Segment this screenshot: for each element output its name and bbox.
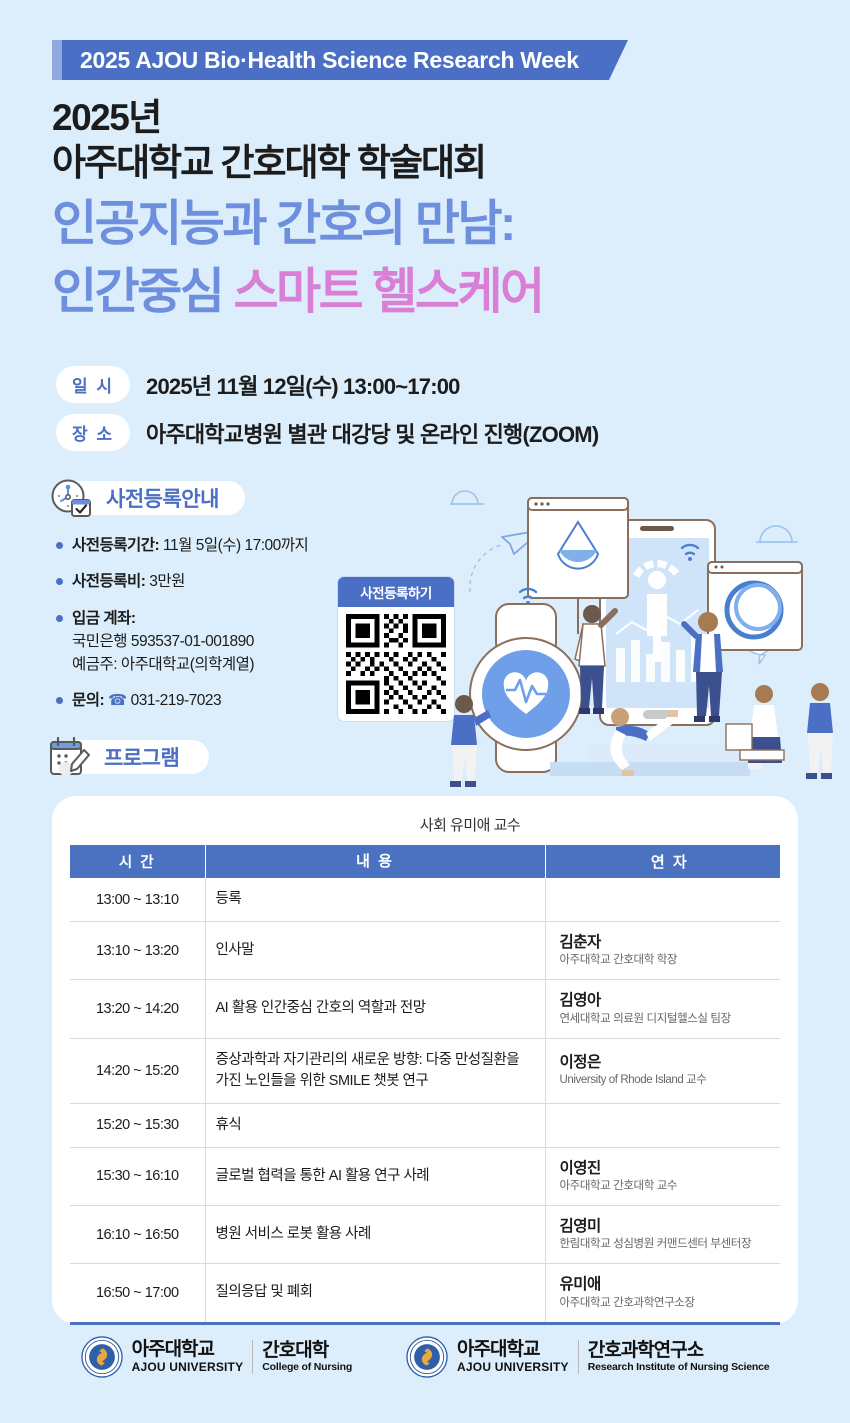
bullet-icon <box>56 615 63 622</box>
column-header-topic: 내 용 <box>205 845 545 878</box>
registration-details: 사전등록기간: 11월 5일(수) 17:00까지 사전등록비: 3만원 입금 … <box>56 534 356 726</box>
registration-fee-value: 3만원 <box>145 573 184 590</box>
cell-time: 13:10 ~ 13:20 <box>70 922 205 980</box>
qr-card-title: 사전등록하기 <box>338 577 454 607</box>
logo-unit: 간호대학 College of Nursing <box>253 1341 352 1374</box>
logo-university: 아주대학교 AJOU UNIVERSITY <box>132 1340 254 1374</box>
bullet-icon <box>56 578 63 585</box>
registration-contact-item: 문의: ☎ 031-219-7023 <box>56 689 356 712</box>
cell-time: 16:10 ~ 16:50 <box>70 1206 205 1264</box>
place-label: 장 소 <box>56 414 130 451</box>
speaker-affiliation: University of Rhode Island 교수 <box>560 1073 771 1088</box>
program-card: 사회 유미애 교수 시 간 내 용 연 자 13:00 ~ 13:10등록13:… <box>52 796 798 1324</box>
person-standing-right <box>806 683 833 779</box>
date-value: 2025년 11월 12일(수) 13:00~17:00 <box>146 369 460 401</box>
registration-account: 입금 계좌: 국민은행 593537-01-001890 예금주: 아주대학교(… <box>72 607 254 677</box>
title-main-blue: 인간중심 <box>52 265 233 319</box>
speaker-name: 이정은 <box>560 1053 771 1072</box>
ajou-emblem-icon <box>406 1336 448 1378</box>
logo-university-en: AJOU UNIVERSITY <box>132 1360 244 1374</box>
speaker-name: 이영진 <box>560 1159 771 1178</box>
cell-speaker: 이영진아주대학교 간호대학 교수 <box>545 1147 780 1205</box>
qr-code-image[interactable] <box>346 614 446 714</box>
cell-speaker: 유미애아주대학교 간호과학연구소장 <box>545 1264 780 1323</box>
logo-university-en: AJOU UNIVERSITY <box>457 1360 569 1374</box>
table-row: 15:30 ~ 16:10글로벌 협력을 통한 AI 활용 연구 사례이영진아주… <box>70 1147 780 1205</box>
place-value: 아주대학교병원 별관 대강당 및 온라인 진행(ZOOM) <box>146 417 598 449</box>
bullet-icon <box>56 542 63 549</box>
speaker-name: 김영미 <box>560 1217 771 1236</box>
table-row: 14:20 ~ 15:20증상과학과 자기관리의 새로운 방향: 다중 만성질환… <box>70 1038 780 1103</box>
speaker-name: 김춘자 <box>560 933 771 952</box>
table-row: 16:10 ~ 16:50병원 서비스 로봇 활용 사례김영미한림대학교 성심병… <box>70 1206 780 1264</box>
logo-text: 아주대학교 AJOU UNIVERSITY 간호대학 College of Nu… <box>132 1340 352 1374</box>
column-header-speaker: 연 자 <box>545 845 780 878</box>
registration-account-label: 입금 계좌: <box>72 610 136 627</box>
registration-account-item: 입금 계좌: 국민은행 593537-01-001890 예금주: 아주대학교(… <box>56 607 356 677</box>
program-table: 시 간 내 용 연 자 13:00 ~ 13:10등록13:10 ~ 13:20… <box>70 845 780 1325</box>
place-row: 장 소 아주대학교병원 별관 대강당 및 온라인 진행(ZOOM) <box>56 414 598 451</box>
logo-university: 아주대학교 AJOU UNIVERSITY <box>457 1340 579 1374</box>
table-row: 15:20 ~ 15:30휴식 <box>70 1103 780 1147</box>
speaker-name: 유미애 <box>560 1275 771 1294</box>
table-row: 13:20 ~ 14:20AI 활용 인간중심 간호의 역할과 전망김영아연세대… <box>70 980 780 1038</box>
telephone-icon: ☎ <box>108 692 127 709</box>
logo-unit: 간호과학연구소 Research Institute of Nursing Sc… <box>579 1341 770 1374</box>
cell-time: 13:20 ~ 14:20 <box>70 980 205 1038</box>
cell-speaker: 김영미한림대학교 성심병원 커맨드센터 부센터장 <box>545 1206 780 1264</box>
date-row: 일 시 2025년 11월 12일(수) 13:00~17:00 <box>56 366 598 403</box>
logo-university-ko: 아주대학교 <box>457 1340 569 1360</box>
program-heading-text: 프로그램 <box>104 742 179 772</box>
logo-unit-en: College of Nursing <box>262 1361 352 1374</box>
registration-period: 사전등록기간: 11월 5일(수) 17:00까지 <box>72 534 308 557</box>
title-main-line2: 인간중심 스마트 헬스케어 <box>52 261 543 324</box>
registration-contact-value: 031-219-7023 <box>127 692 221 709</box>
table-row: 13:10 ~ 13:20인사말김춘자아주대학교 간호대학 학장 <box>70 922 780 980</box>
banner-text: 2025 AJOU Bio·Health Science Research We… <box>62 40 609 80</box>
cell-time: 14:20 ~ 15:20 <box>70 1038 205 1103</box>
logo-unit-ko: 간호대학 <box>262 1341 352 1361</box>
registration-fee-item: 사전등록비: 3만원 <box>56 570 356 593</box>
cell-time: 15:20 ~ 15:30 <box>70 1103 205 1147</box>
footer-logos: 아주대학교 AJOU UNIVERSITY 간호대학 College of Nu… <box>0 1336 850 1378</box>
cell-speaker <box>545 1103 780 1147</box>
cell-speaker: 김영아연세대학교 의료원 디지털헬스실 팀장 <box>545 980 780 1038</box>
speaker-affiliation: 아주대학교 간호대학 교수 <box>560 1179 771 1194</box>
title-subject: 아주대학교 간호대학 학술대회 <box>52 140 543 186</box>
table-row: 13:00 ~ 13:10등록 <box>70 878 780 922</box>
registration-fee: 사전등록비: 3만원 <box>72 570 185 593</box>
cell-topic: 질의응답 및 폐회 <box>205 1264 545 1323</box>
registration-heading: 사전등록안내 <box>48 476 245 520</box>
speaker-name: 김영아 <box>560 991 771 1010</box>
registration-period-item: 사전등록기간: 11월 5일(수) 17:00까지 <box>56 534 356 557</box>
cell-topic: AI 활용 인간중심 간호의 역할과 전망 <box>205 980 545 1038</box>
banner-accent-bar <box>52 40 62 80</box>
event-info: 일 시 2025년 11월 12일(수) 13:00~17:00 장 소 아주대… <box>56 366 598 462</box>
cell-time: 15:30 ~ 16:10 <box>70 1147 205 1205</box>
cell-topic: 병원 서비스 로봇 활용 사례 <box>205 1206 545 1264</box>
program-heading: 프로그램 <box>48 736 209 778</box>
bullet-icon <box>56 697 63 704</box>
registration-account-holder: 예금주: 아주대학교(의학계열) <box>72 653 254 676</box>
cell-topic: 인사말 <box>205 922 545 980</box>
column-header-time: 시 간 <box>70 845 205 878</box>
program-table-body: 13:00 ~ 13:10등록13:10 ~ 13:20인사말김춘자아주대학교 … <box>70 878 780 1323</box>
registration-fee-label: 사전등록비: <box>72 573 145 590</box>
speaker-affiliation: 연세대학교 의료원 디지털헬스실 팀장 <box>560 1012 771 1027</box>
registration-contact: 문의: ☎ 031-219-7023 <box>72 689 221 712</box>
date-label: 일 시 <box>56 366 130 403</box>
logo-unit-ko: 간호과학연구소 <box>588 1341 770 1361</box>
table-header-row: 시 간 내 용 연 자 <box>70 845 780 878</box>
cell-topic: 증상과학과 자기관리의 새로운 방향: 다중 만성질환을 가진 노인들을 위한 … <box>205 1038 545 1103</box>
title-main-pink: 스마트 헬스케어 <box>233 265 542 319</box>
registration-heading-text: 사전등록안내 <box>106 483 219 513</box>
speaker-affiliation: 아주대학교 간호과학연구소장 <box>560 1296 771 1311</box>
logo-research-institute: 아주대학교 AJOU UNIVERSITY 간호과학연구소 Research I… <box>406 1336 769 1378</box>
cell-speaker: 이정은University of Rhode Island 교수 <box>545 1038 780 1103</box>
qr-registration-card[interactable]: 사전등록하기 <box>337 576 455 722</box>
registration-account-bank: 국민은행 593537-01-001890 <box>72 630 254 653</box>
registration-period-label: 사전등록기간: <box>72 537 159 554</box>
cell-speaker: 김춘자아주대학교 간호대학 학장 <box>545 922 780 980</box>
cell-time: 13:00 ~ 13:10 <box>70 878 205 922</box>
cell-topic: 글로벌 협력을 통한 AI 활용 연구 사례 <box>205 1147 545 1205</box>
speaker-affiliation: 한림대학교 성심병원 커맨드센터 부센터장 <box>560 1237 771 1252</box>
program-table-head: 시 간 내 용 연 자 <box>70 845 780 878</box>
digital-health-illustration <box>440 462 850 792</box>
cell-topic: 휴식 <box>205 1103 545 1147</box>
cell-speaker <box>545 878 780 922</box>
table-row: 16:50 ~ 17:00질의응답 및 폐회유미애아주대학교 간호과학연구소장 <box>70 1264 780 1323</box>
logo-text: 아주대학교 AJOU UNIVERSITY 간호과학연구소 Research I… <box>457 1340 769 1374</box>
title-main-line1: 인공지능과 간호의 만남: <box>52 193 543 256</box>
moderator-label: 사회 유미애 교수 <box>142 796 798 845</box>
calendar-pencil-icon <box>48 736 92 778</box>
speaker-affiliation: 아주대학교 간호대학 학장 <box>560 953 771 968</box>
logo-college-of-nursing: 아주대학교 AJOU UNIVERSITY 간호대학 College of Nu… <box>81 1336 352 1378</box>
logo-university-ko: 아주대학교 <box>132 1340 244 1360</box>
event-banner: 2025 AJOU Bio·Health Science Research We… <box>52 40 609 80</box>
cell-time: 16:50 ~ 17:00 <box>70 1264 205 1323</box>
ajou-emblem-icon <box>81 1336 123 1378</box>
clock-check-icon <box>48 476 94 520</box>
cell-topic: 등록 <box>205 878 545 922</box>
registration-contact-label: 문의: <box>72 692 104 709</box>
logo-unit-en: Research Institute of Nursing Science <box>588 1361 770 1374</box>
page-title: 2025년 아주대학교 간호대학 학술대회 인공지능과 간호의 만남: 인간중심… <box>52 96 543 324</box>
title-year: 2025년 <box>52 96 543 140</box>
registration-period-value: 11월 5일(수) 17:00까지 <box>159 537 308 554</box>
